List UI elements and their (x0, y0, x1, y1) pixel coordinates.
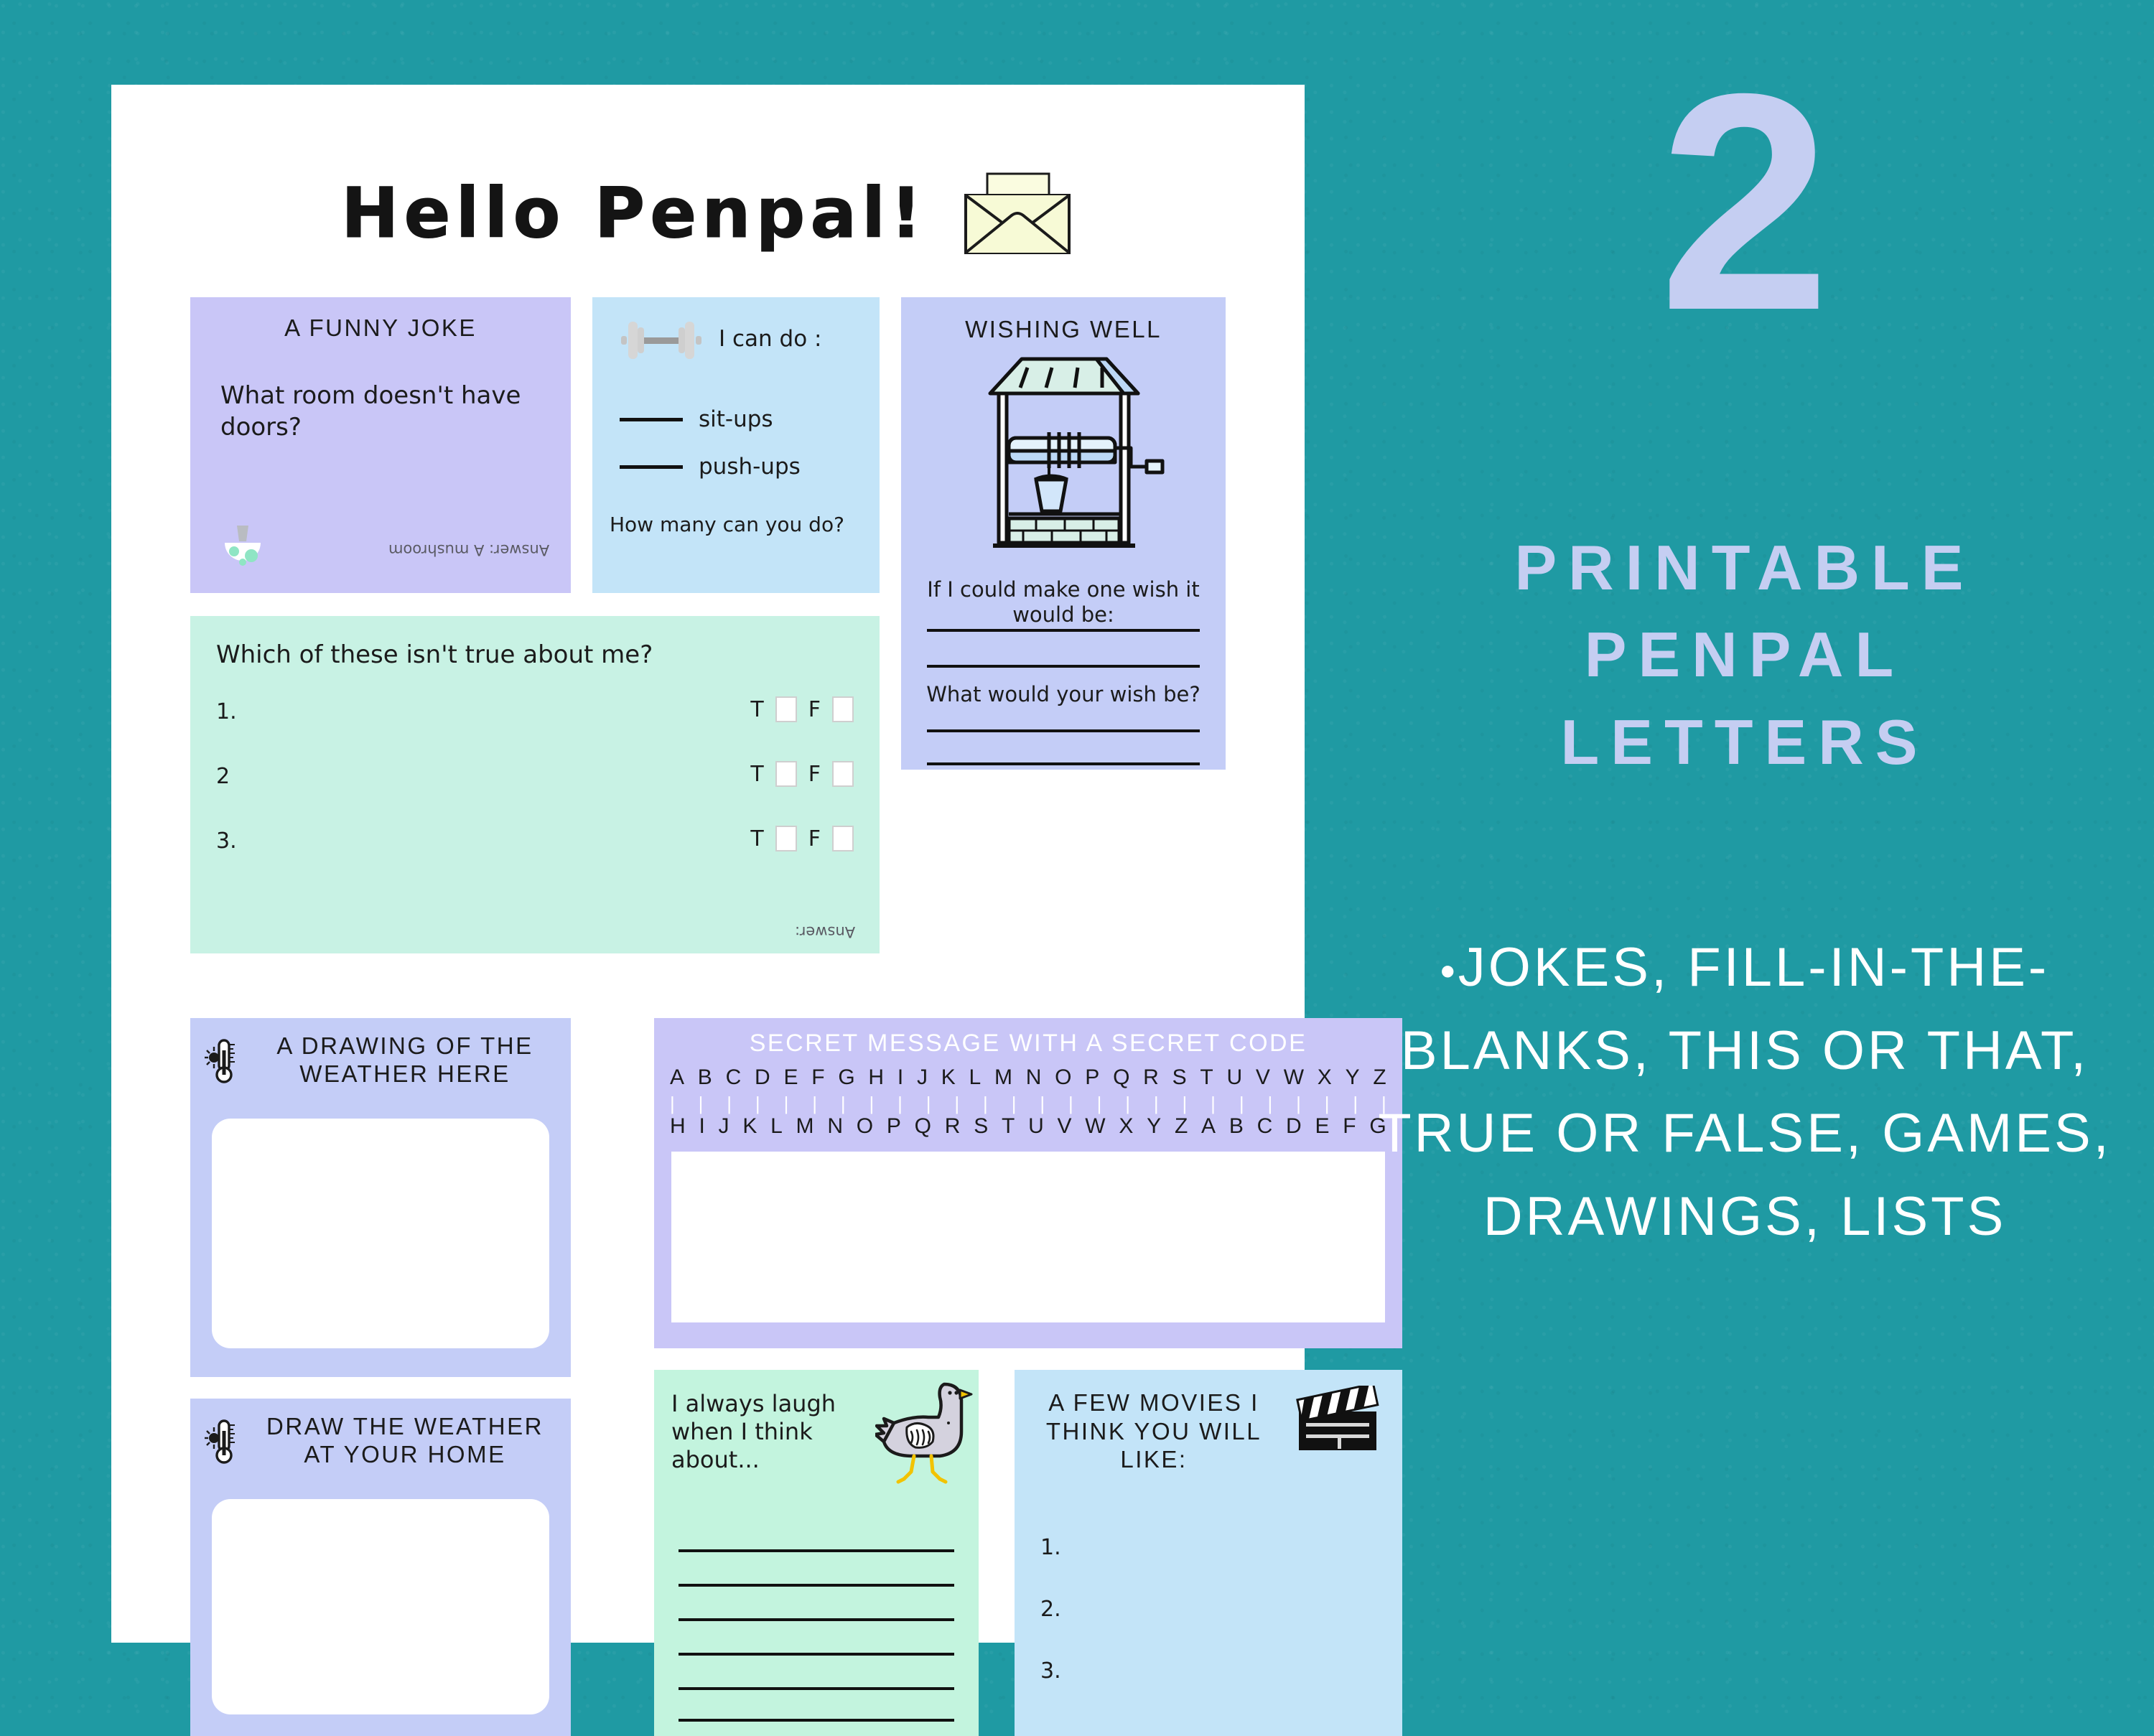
laugh-line-1[interactable] (679, 1549, 954, 1552)
page-title: Hello Penpal! (341, 173, 927, 253)
pushups-label: push-ups (699, 454, 801, 480)
promo-feature-list: •JOKES, FILL-IN-THE-BLANKS, THIS OR THAT… (1364, 926, 2125, 1258)
weather-home-drawing-area[interactable] (212, 1499, 549, 1714)
laugh-line-4[interactable] (679, 1653, 954, 1656)
tf-true-checkbox-2[interactable] (775, 761, 797, 787)
sheet-header: Hello Penpal! (111, 171, 1305, 256)
sun-thermometer-icon (205, 1037, 242, 1083)
tf-true-checkbox-1[interactable] (775, 696, 797, 722)
printable-sheet: Hello Penpal! A FUNNY JOKE What room doe… (111, 85, 1305, 1643)
tf-true-label-3: T (750, 826, 763, 851)
joke-answer: Answer: A mushroom (388, 541, 549, 559)
tf-false-label-3: F (808, 826, 821, 851)
weather-home-header: DRAW THE WEATHER AT YOUR HOME (205, 1413, 558, 1469)
promo-heading: PRINTABLE PENPAL LETTERS (1335, 524, 2154, 785)
envelope-icon (960, 171, 1075, 256)
tf-true-checkbox-3[interactable] (775, 826, 797, 851)
tf-false-checkbox-1[interactable] (832, 696, 854, 722)
dumbbell-icon (615, 317, 707, 363)
wish-prompt-2: What would your wish be? (901, 682, 1226, 707)
weather-here-panel: A DRAWING OF THE WEATHER HERE (190, 1018, 571, 1377)
situps-label: sit-ups (699, 406, 773, 432)
wish-line-1[interactable] (927, 629, 1200, 632)
tf-true-label-2: T (750, 762, 763, 787)
wishing-well-illustration (943, 352, 1184, 564)
exercise-footer: How many can you do? (610, 513, 844, 536)
weather-home-panel: DRAW THE WEATHER AT YOUR HOME (190, 1399, 571, 1736)
weather-here-label: A DRAWING OF THE WEATHER HERE (252, 1032, 558, 1088)
exercise-row-pushups: push-ups (620, 454, 801, 480)
joke-panel: A FUNNY JOKE What room doesn't have door… (190, 297, 571, 593)
promo-column: 2 PRINTABLE PENPAL LETTERS •JOKES, FILL-… (1335, 0, 2154, 1723)
tf-number-1: 1. (216, 699, 237, 724)
weather-here-header: A DRAWING OF THE WEATHER HERE (205, 1032, 558, 1088)
true-false-panel: Which of these isn't true about me? 1. T… (190, 616, 880, 953)
promo-feature-text: JOKES, FILL-IN-THE-BLANKS, THIS OR THAT,… (1378, 937, 2112, 1247)
movie-item-3: 3. (1040, 1658, 1061, 1684)
weather-here-drawing-area[interactable] (212, 1119, 549, 1348)
tf-number-3: 3. (216, 829, 237, 854)
secret-message-write-area[interactable] (671, 1152, 1385, 1322)
table-row: 1. T F (216, 699, 854, 728)
secret-code-panel: SECRET MESSAGE WITH A SECRET CODE ABCDEF… (654, 1018, 1402, 1348)
tf-number-2: 2 (216, 764, 230, 789)
pushups-blank[interactable] (620, 465, 683, 469)
wishing-well-panel: WISHING WELL (901, 297, 1226, 770)
laugh-panel: I always laugh when I think about... (654, 1370, 979, 1736)
movie-item-1: 1. (1040, 1535, 1061, 1560)
mushroom-icon (222, 524, 264, 571)
tf-false-label-1: F (808, 697, 821, 722)
promo-count: 2 (1335, 61, 2154, 345)
bullet-marker-icon: • (1440, 947, 1458, 995)
joke-question: What room doesn't have doors? (220, 381, 529, 443)
laugh-prompt: I always laugh when I think about... (671, 1390, 851, 1474)
tf-false-label-2: F (808, 762, 821, 787)
cipher-alphabet: HIJKLMNOPQRSTUVWXYZABCDEFG (670, 1114, 1386, 1139)
tf-false-checkbox-2[interactable] (832, 761, 854, 787)
true-false-answer: Answer: (795, 923, 855, 941)
laugh-line-2[interactable] (679, 1584, 954, 1587)
true-false-question: Which of these isn't true about me? (216, 640, 653, 669)
secret-code-heading: SECRET MESSAGE WITH A SECRET CODE (654, 1030, 1402, 1058)
laugh-line-6[interactable] (679, 1719, 954, 1722)
wish-prompt-1: If I could make one wish it would be: (901, 577, 1226, 628)
exercise-row-situps: sit-ups (620, 406, 773, 432)
wish-line-2[interactable] (927, 665, 1200, 668)
wishing-well-heading: WISHING WELL (901, 316, 1226, 343)
tf-true-label-1: T (750, 697, 763, 722)
laugh-line-3[interactable] (679, 1618, 954, 1621)
tf-false-checkbox-3[interactable] (832, 826, 854, 851)
promo-heading-line-2: PENPAL (1335, 611, 2154, 698)
promo-heading-line-1: PRINTABLE (1335, 524, 2154, 611)
goose-icon (875, 1376, 973, 1485)
weather-home-label: DRAW THE WEATHER AT YOUR HOME (252, 1413, 558, 1469)
exercise-panel: I can do : sit-ups push-ups How many can… (592, 297, 880, 593)
movie-item-2: 2. (1040, 1597, 1061, 1622)
laugh-line-5[interactable] (679, 1687, 954, 1690)
exercise-prompt: I can do : (719, 326, 821, 352)
joke-heading: A FUNNY JOKE (190, 314, 571, 342)
sun-thermometer-icon (205, 1418, 242, 1464)
situps-blank[interactable] (620, 418, 683, 421)
wish-line-4[interactable] (927, 762, 1200, 765)
plain-alphabet: ABCDEFGHIJKLMNOPQRSTUVWXYZ (670, 1065, 1386, 1090)
movies-heading: A FEW MOVIES I THINK YOU WILL LIKE: (1032, 1389, 1276, 1474)
table-row: 2 T F (216, 764, 854, 793)
promo-heading-line-3: LETTERS (1335, 699, 2154, 785)
wish-line-3[interactable] (927, 729, 1200, 732)
cipher-tick-row: |||||||||||||||||||||||||| (670, 1093, 1386, 1115)
table-row: 3. T F (216, 829, 854, 857)
